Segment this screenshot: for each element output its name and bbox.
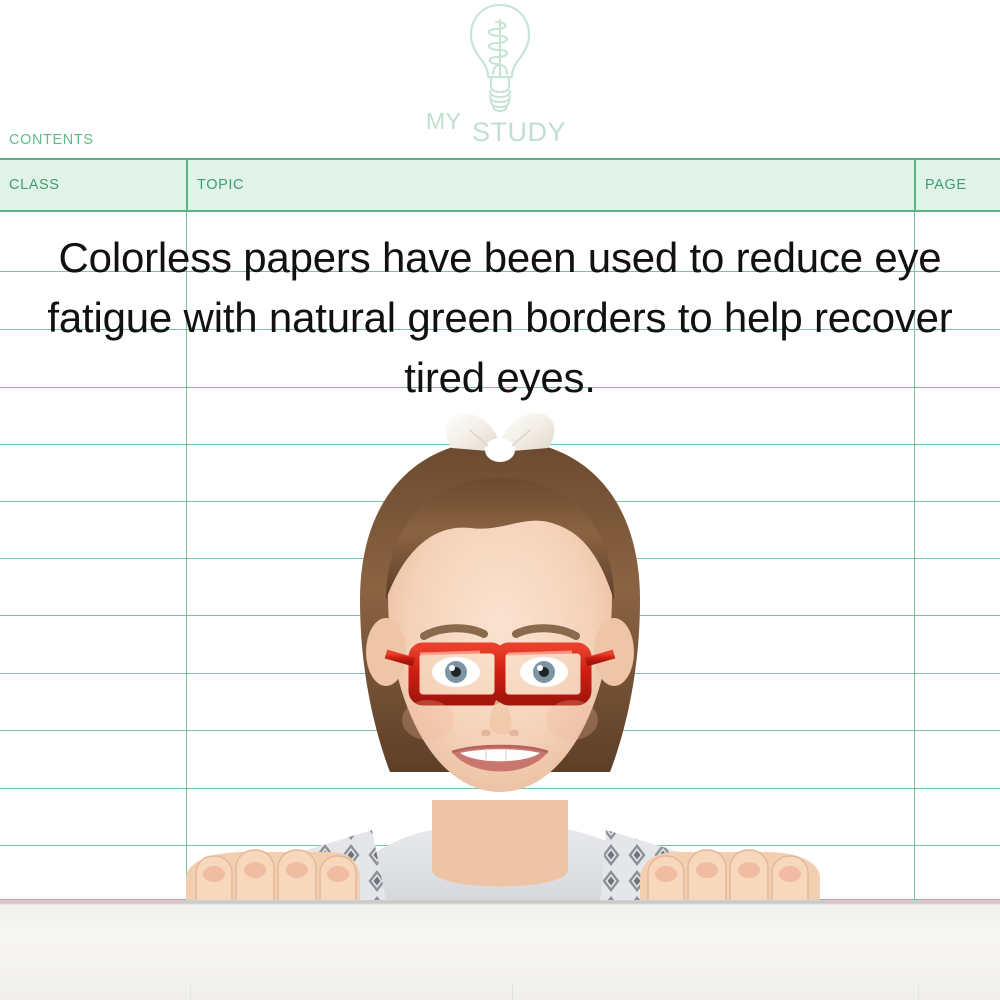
ruled-line — [0, 788, 1000, 789]
girl-photo — [0, 400, 1000, 930]
column-header-page: PAGE — [914, 160, 1000, 210]
ruled-line — [0, 558, 1000, 559]
face — [388, 488, 612, 792]
hair — [360, 440, 640, 772]
ruled-line — [0, 444, 1000, 445]
table-header-row: CLASS TOPIC PAGE — [0, 158, 1000, 212]
lightbulb-icon — [460, 2, 540, 114]
brand-logo: MY STUDY — [0, 2, 1000, 152]
notebook-page: MY STUDY CONTENTS CLASS TOPIC PAGE Color… — [0, 0, 1000, 1000]
ruled-line — [0, 615, 1000, 616]
logo-word-study: STUDY — [472, 117, 566, 148]
ruled-line — [0, 673, 1000, 674]
ruled-line — [0, 501, 1000, 502]
white-board — [0, 900, 1000, 1000]
ruled-line — [0, 730, 1000, 731]
column-header-topic: TOPIC — [186, 160, 914, 210]
headline-text: Colorless papers have been used to reduc… — [0, 228, 1000, 408]
logo-word-my: MY — [426, 108, 462, 135]
eyes — [432, 657, 568, 687]
ruled-line — [0, 845, 1000, 846]
contents-label: CONTENTS — [9, 132, 94, 148]
smile — [452, 746, 548, 772]
hair-bow — [445, 413, 554, 462]
column-header-class: CLASS — [0, 160, 186, 210]
eyeglasses — [386, 648, 614, 700]
